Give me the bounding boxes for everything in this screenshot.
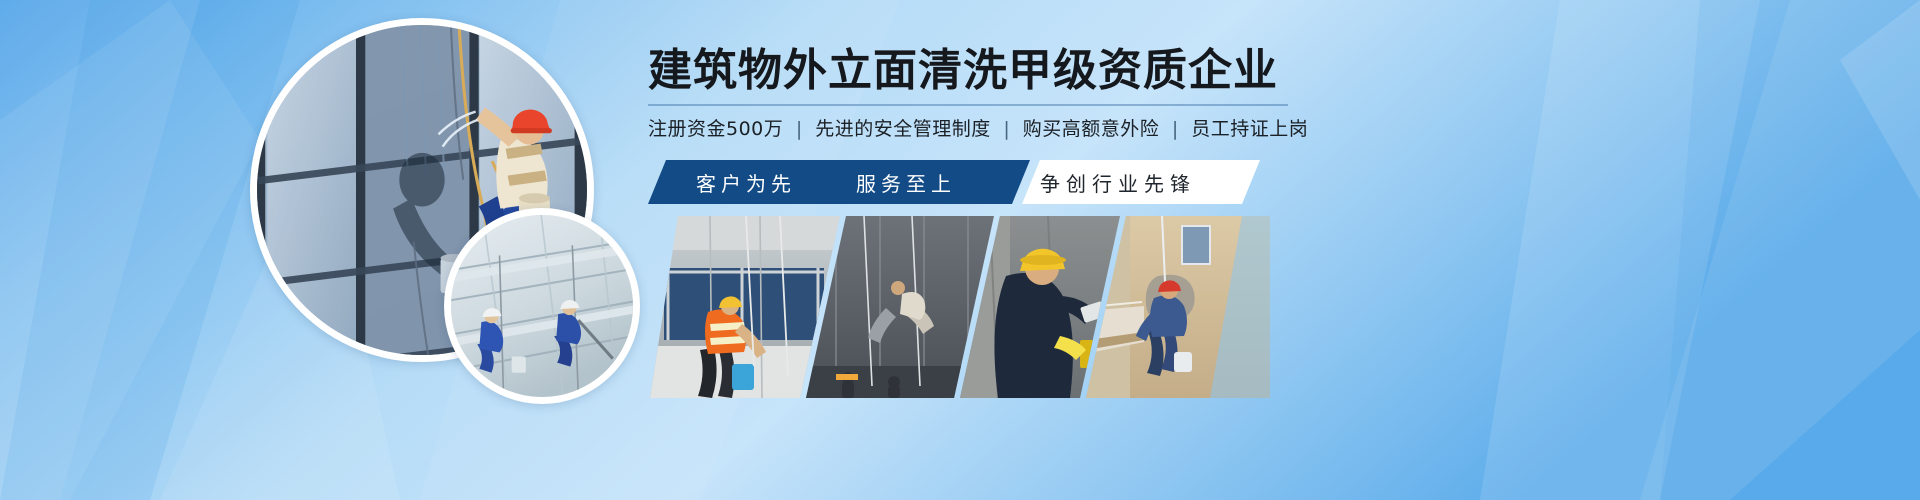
feature-item-4: 员工持证上岗 [1191,118,1308,140]
slogan-bar: 客户为先 服务至上 争创行业先锋 [648,160,1260,204]
slogan-dark-text: 客户为先 服务至上 [696,160,956,204]
feature-separator: | [790,118,809,140]
title-divider [648,104,1288,106]
slogan-item-3: 争创行业先锋 [1040,168,1196,197]
slogan-item-2: 服务至上 [856,168,956,197]
feature-item-3: 购买高额意外险 [1023,118,1160,140]
feature-separator: | [997,118,1016,140]
circle-photo-small [444,208,640,404]
slogan-light-text: 争创行业先锋 [1040,160,1196,204]
slogan-item-1: 客户为先 [696,168,796,197]
feature-item-2: 先进的安全管理制度 [815,118,991,140]
feature-item-1: 注册资金500万 [648,118,783,140]
text-block: 建筑物外立面清洗甲级资质企业 注册资金500万 | 先进的安全管理制度 | 购买… [648,46,1308,141]
feature-list: 注册资金500万 | 先进的安全管理制度 | 购买高额意外险 | 员工持证上岗 [648,114,1308,141]
photo-strip [650,216,1270,398]
page-title: 建筑物外立面清洗甲级资质企业 [648,46,1308,95]
feature-separator: | [1166,118,1185,140]
promo-banner: 建筑物外立面清洗甲级资质企业 注册资金500万 | 先进的安全管理制度 | 购买… [0,0,1920,500]
